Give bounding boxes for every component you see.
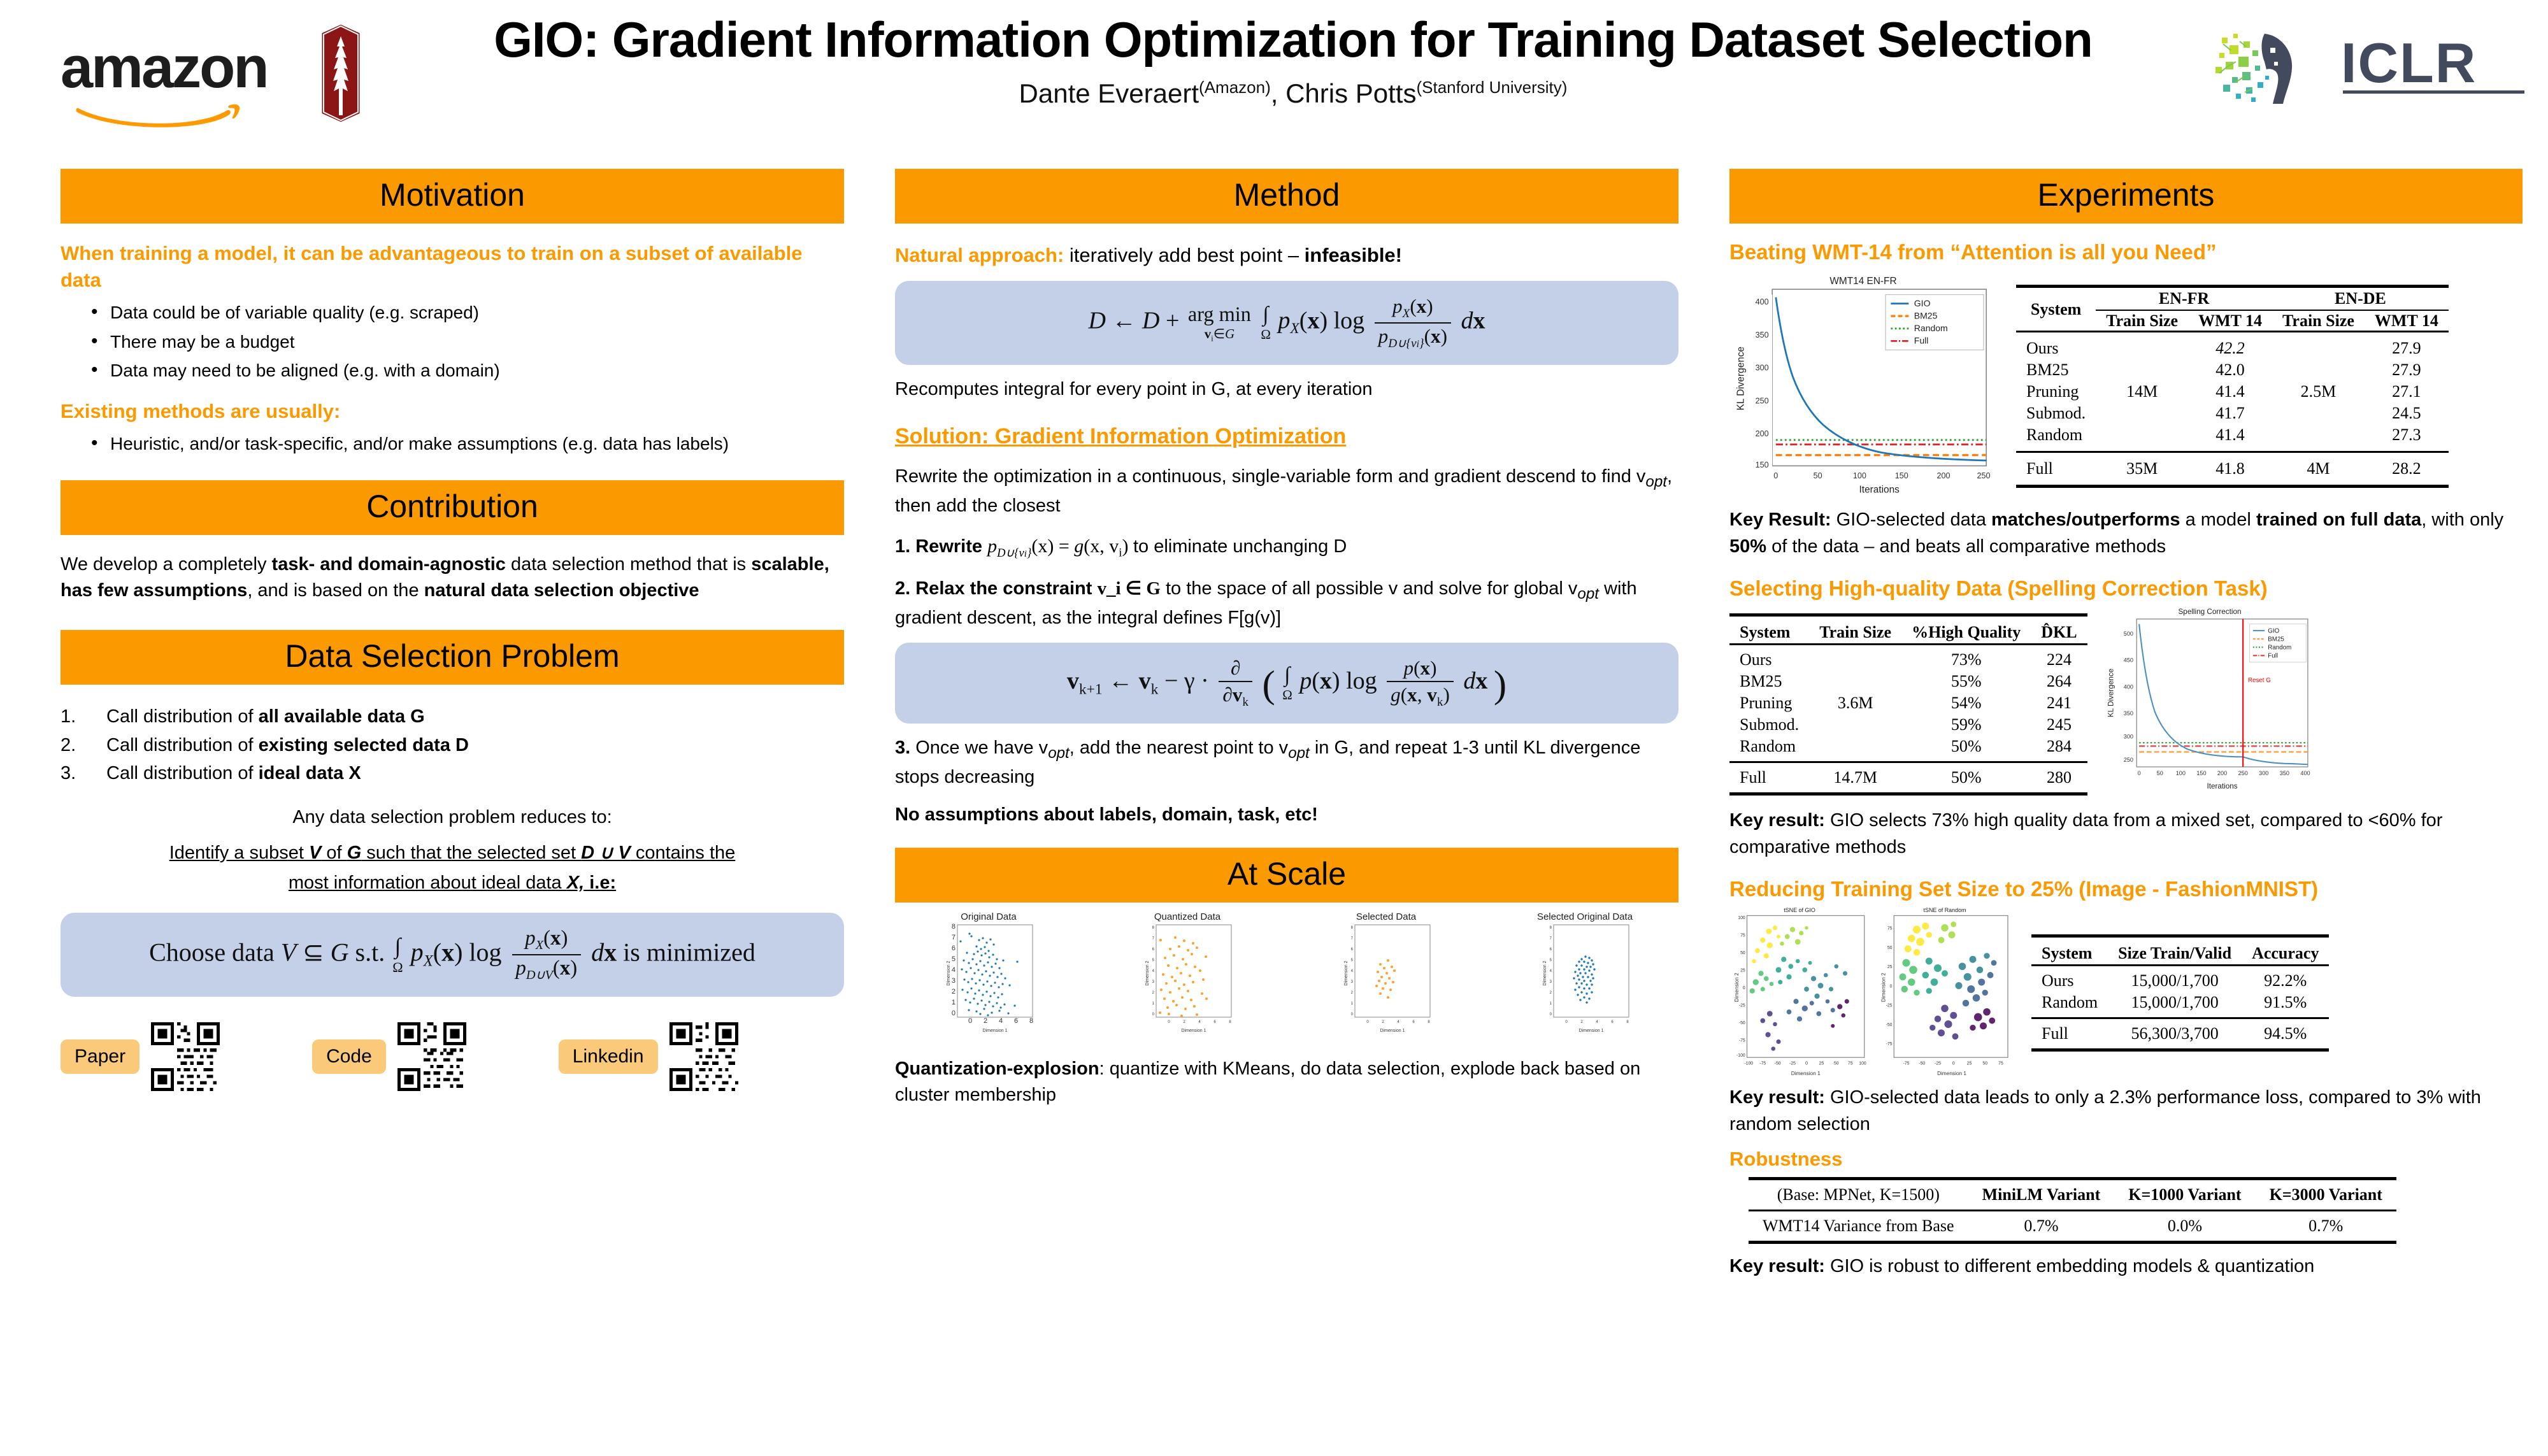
table-row: Pruning 3.6M 54% 241 xyxy=(1729,692,2087,714)
wmt-r4-fr-wmt: 41.4 xyxy=(2188,424,2272,452)
rb-col-k1000: K=1000 Variant xyxy=(2114,1179,2255,1211)
no-assumptions-note: No assumptions about labels, domain, tas… xyxy=(895,802,1678,828)
wmt-results-table: System EN-FR EN-DE Train Size WMT 14 Tra… xyxy=(2016,285,2449,488)
svg-text:-75: -75 xyxy=(1739,1039,1745,1043)
wmt-r4-system: Random xyxy=(2016,424,2096,452)
svg-text:Full: Full xyxy=(2268,653,2278,660)
scatter-title-quantized: Quantized Data xyxy=(1094,911,1281,922)
wmt-xticks: 050100 150200250 xyxy=(1773,471,1990,480)
svg-text:0: 0 xyxy=(1152,1013,1155,1017)
fmnist-results-table: System Size Train/Valid Accuracy Ours 15… xyxy=(2031,934,2329,1052)
spell-col-hq: %High Quality xyxy=(1901,615,2031,645)
spell-r3-system: Submod. xyxy=(1729,714,1809,736)
section-band-contribution: Contribution xyxy=(61,480,844,535)
svg-text:-25: -25 xyxy=(1789,1061,1796,1066)
spelling-subheading: Selecting High-quality Data (Spelling Co… xyxy=(1729,576,2523,601)
svg-text:8: 8 xyxy=(1626,1020,1629,1024)
wmt-group-enfr: EN-FR xyxy=(2096,287,2272,311)
page-title: GIO: Gradient Information Optimization f… xyxy=(408,13,2179,68)
spell-col-system: System xyxy=(1729,615,1809,645)
paper-link[interactable]: Paper xyxy=(61,1022,220,1091)
rb-col-minilm: MiniLM Variant xyxy=(1968,1179,2115,1211)
motivation-lead-text: When training a model, it can be advanta… xyxy=(61,240,844,294)
wmt-chart-title: WMT14 EN-FR xyxy=(1829,276,1896,287)
svg-text:0: 0 xyxy=(1773,471,1778,480)
author-1-affiliation: (Amazon) xyxy=(1199,78,1271,97)
svg-text:4: 4 xyxy=(1351,969,1354,973)
amazon-logo: amazon xyxy=(61,38,283,121)
svg-text:-25: -25 xyxy=(1886,1004,1893,1008)
svg-text:8: 8 xyxy=(1029,1017,1033,1025)
paper-qr-code-icon[interactable] xyxy=(151,1022,220,1091)
rb-v2: 0.0% xyxy=(2114,1211,2255,1243)
svg-text:3: 3 xyxy=(1550,980,1552,984)
scatter-xlabel-selected: Dimension 1 xyxy=(1380,1029,1405,1033)
spell-full-hq: 50% xyxy=(1901,762,2031,794)
svg-text:6: 6 xyxy=(1351,948,1354,952)
svg-text:75: 75 xyxy=(1848,1061,1853,1066)
table-header-row: (Base: MPNet, K=1500) MiniLM Variant K=1… xyxy=(1749,1179,2396,1211)
svg-text:0: 0 xyxy=(1952,1061,1955,1066)
rb-key-label: Key result: xyxy=(1729,1256,1825,1276)
list-number: 2. xyxy=(61,731,76,760)
spell-col-dkl: D̂KL xyxy=(2031,615,2087,645)
svg-text:75: 75 xyxy=(1998,1061,2003,1066)
identify-G: G xyxy=(347,843,362,863)
svg-text:6: 6 xyxy=(952,945,955,952)
wmt-sub-fr-wmt: WMT 14 xyxy=(2188,310,2272,332)
table-row: WMT14 Variance from Base 0.7% 0.0% 0.7% xyxy=(1749,1211,2396,1243)
svg-text:8: 8 xyxy=(1351,926,1354,930)
identify-b: of xyxy=(321,843,347,863)
tsne-gio-ylabel: Dimension 2 xyxy=(1734,973,1740,1002)
svg-text:0: 0 xyxy=(1805,1061,1808,1066)
svg-text:0: 0 xyxy=(2137,770,2140,776)
scatter-ylabel-original: Dimension 2 xyxy=(947,960,951,985)
spell-r2-size: 3.6M xyxy=(1809,692,1901,714)
reduces-to-text: Any data selection problem reduces to: xyxy=(61,804,844,831)
fm-r0-system: Ours xyxy=(2031,965,2108,992)
natural-approach-equation-box: D ← D + arg minvi∈G ∫Ω pX(x) log pX(x)pD… xyxy=(895,281,1678,365)
scatter-xlabel-selected-original: Dimension 1 xyxy=(1579,1029,1604,1033)
svg-text:-75: -75 xyxy=(1903,1061,1910,1066)
wmt-key-d: a model xyxy=(2180,510,2256,530)
identify-DV: D ∪ V xyxy=(581,843,631,863)
svg-text:150: 150 xyxy=(1895,471,1908,480)
svg-text:350: 350 xyxy=(1756,331,1769,339)
data-selection-numbered-list: 1.Call distribution of all available dat… xyxy=(61,703,844,789)
links-row: Paper xyxy=(61,1022,844,1091)
table-header-row: System Size Train/Valid Accuracy xyxy=(2031,936,2329,965)
wmt-r2-de-size: 2.5M xyxy=(2272,381,2365,403)
wmt-r0-de-size xyxy=(2272,332,2365,360)
spell-full-dkl: 280 xyxy=(2031,762,2087,794)
rewrite-subscript: opt xyxy=(1645,473,1667,490)
svg-text:0: 0 xyxy=(1366,1020,1369,1024)
spell-xlabel: Iterations xyxy=(2207,782,2237,790)
method-step-3: 3. Once we have vopt, add the nearest po… xyxy=(895,735,1678,790)
identify-V: V xyxy=(309,843,321,863)
wmt-r4-fr-size xyxy=(2096,424,2188,452)
infeasible-emphasis: infeasible! xyxy=(1305,244,1402,266)
wmt-r1-fr-size xyxy=(2096,359,2188,381)
section-band-at-scale: At Scale xyxy=(895,848,1678,903)
natural-approach-label: Natural approach: xyxy=(895,244,1064,266)
step2-subscript: opt xyxy=(1577,585,1599,603)
wmt-key-h: of the data – and beats all comparative … xyxy=(1766,536,2166,557)
author-separator: , xyxy=(1271,78,1285,108)
section-band-data-selection: Data Selection Problem xyxy=(61,630,844,685)
spell-col-size: Train Size xyxy=(1809,615,1901,645)
svg-text:250: 250 xyxy=(1977,471,1990,480)
spell-r2-hq: 54% xyxy=(1901,692,2031,714)
section-band-experiments: Experiments xyxy=(1729,169,2523,224)
svg-text:GIO: GIO xyxy=(1914,298,1931,308)
wmt-key-g: 50% xyxy=(1729,536,1766,557)
title-block: GIO: Gradient Information Optimization f… xyxy=(408,13,2179,109)
svg-text:50: 50 xyxy=(1834,1061,1839,1066)
svg-text:50: 50 xyxy=(1814,471,1822,480)
step1-tail: to eliminate unchanging D xyxy=(1133,536,1347,557)
spell-r3-hq: 59% xyxy=(1901,714,2031,736)
step1-label: 1. Rewrite xyxy=(895,536,982,557)
svg-text:350: 350 xyxy=(2123,710,2133,717)
wmt-r1-system: BM25 xyxy=(2016,359,2096,381)
svg-text:BM25: BM25 xyxy=(2268,636,2284,643)
svg-text:100: 100 xyxy=(1738,916,1745,920)
code-qr-code-icon[interactable] xyxy=(397,1022,466,1091)
svg-text:25: 25 xyxy=(1819,1061,1824,1066)
robustness-table: (Base: MPNet, K=1500) MiniLM Variant K=1… xyxy=(1749,1177,2396,1244)
spell-r4-hq: 50% xyxy=(1901,736,2031,762)
fm-key-text: GIO-selected data leads to only a 2.3% p… xyxy=(1729,1087,2481,1134)
motivation-bullet-list: Data could be of variable quality (e.g. … xyxy=(61,300,844,383)
svg-text:0: 0 xyxy=(1351,1013,1354,1017)
spell-chart-title: Spelling Correction xyxy=(2178,608,2241,616)
spell-r1-dkl: 264 xyxy=(2031,671,2087,692)
step3-b: , add the nearest point to v xyxy=(1070,738,1288,758)
rb-key-text: GIO is robust to different embedding mod… xyxy=(1825,1256,2314,1276)
svg-text:8: 8 xyxy=(1229,1020,1231,1024)
poster-header: amazon GIO: Gradient Information Optimiz… xyxy=(0,0,2548,159)
svg-text:3: 3 xyxy=(1351,980,1354,984)
svg-text:0: 0 xyxy=(1550,1013,1552,1017)
svg-text:5: 5 xyxy=(1550,959,1552,962)
objective-equation-box: Choose data V ⊆ G s.t. ∫Ω pX(x) log pX(x… xyxy=(61,913,844,997)
scatter-xlabel-original: Dimension 1 xyxy=(983,1029,1008,1033)
fm-col-size: Size Train/Valid xyxy=(2108,936,2242,965)
table-header-row: System Train Size %High Quality D̂KL xyxy=(1729,615,2087,645)
scatter-svg-selected: 8765 43210 02468 Dimension 2 Dimension 1 xyxy=(1292,922,1480,1040)
section-band-motivation: Motivation xyxy=(61,169,844,224)
svg-text:400: 400 xyxy=(2300,770,2310,776)
svg-text:-25: -25 xyxy=(1739,1004,1745,1008)
svg-text:4: 4 xyxy=(999,1017,1003,1025)
svg-text:7: 7 xyxy=(952,934,955,941)
gio-update-equation-box: vk+1 ← vk − γ · ∂∂vk ( ∫Ω p(x) log p(x)g… xyxy=(895,643,1678,724)
wmt-col-system: System xyxy=(2016,287,2096,332)
wmt-r4-de-size xyxy=(2272,424,2365,452)
table-footer-row: Full 35M 41.8 4M 28.2 xyxy=(2016,452,2449,487)
svg-text:2: 2 xyxy=(1580,1020,1583,1024)
table-row: Ours 15,000/1,700 92.2% xyxy=(2031,965,2329,992)
list-text-b: existing selected data D xyxy=(259,735,469,755)
svg-text:4: 4 xyxy=(1152,969,1155,973)
svg-text:250: 250 xyxy=(1756,396,1769,405)
tsne-gio-xticks: -100-75-50-25 0255075100 xyxy=(1744,1061,1866,1066)
wmt-full-fr-size: 35M xyxy=(2096,452,2188,487)
spell-ylabel: KL Divergence xyxy=(2107,669,2115,717)
svg-text:150: 150 xyxy=(1756,460,1769,469)
svg-text:BM25: BM25 xyxy=(1914,310,1938,320)
svg-text:500: 500 xyxy=(2123,631,2133,637)
column-left: Motivation When training a model, it can… xyxy=(61,169,844,1091)
svg-text:2: 2 xyxy=(1550,991,1552,995)
solution-heading: Solution: Gradient Information Optimizat… xyxy=(895,422,1678,451)
wmt-r3-de-wmt: 24.5 xyxy=(2365,403,2449,424)
wmt-key-label: Key Result: xyxy=(1729,510,1831,530)
column-right: Experiments Beating WMT-14 from “Attenti… xyxy=(1729,169,2523,1280)
wmt-row: WMT14 EN-FR 400350250 200200150 40035030… xyxy=(1729,273,2523,496)
table-footer-row: Full 14.7M 50% 280 xyxy=(1729,762,2087,794)
identify-d: contains the xyxy=(631,843,735,863)
list-number: 1. xyxy=(61,703,76,731)
spell-full-size: 14.7M xyxy=(1809,762,1901,794)
section-band-method: Method xyxy=(895,169,1678,224)
tsne-gio-title: tSNE of GIO xyxy=(1784,907,1815,913)
spell-reset-annotation: Reset G xyxy=(2248,677,2271,684)
wmt-key-f: , with only xyxy=(2421,510,2503,530)
spell-r3-size xyxy=(1809,714,1901,736)
wmt-key-b: GIO-selected data xyxy=(1831,510,1991,530)
spell-r1-hq: 55% xyxy=(1901,671,2031,692)
gio-update-equation: vk+1 ← vk − γ · ∂∂vk ( ∫Ω p(x) log p(x)g… xyxy=(912,657,1662,710)
svg-text:4: 4 xyxy=(1550,969,1552,973)
svg-text:-50: -50 xyxy=(1919,1061,1925,1066)
list-text-b: all available data G xyxy=(259,706,425,727)
table-row: Random 15,000/1,700 91.5% xyxy=(2031,992,2329,1018)
table-row: Submod. 41.7 24.5 xyxy=(2016,403,2449,424)
natural-approach-line: Natural approach: iteratively add best p… xyxy=(895,241,1678,269)
wmt-key-result: Key Result: GIO-selected data matches/ou… xyxy=(1729,506,2523,560)
spell-r0-size xyxy=(1809,645,1901,671)
svg-text:200: 200 xyxy=(1936,471,1950,480)
svg-text:8: 8 xyxy=(952,923,955,931)
list-text-a: Call distribution of xyxy=(106,763,259,783)
identify-c: such that the selected set xyxy=(361,843,581,863)
svg-text:8: 8 xyxy=(1550,926,1552,930)
linkedin-label[interactable]: Linkedin xyxy=(559,1039,658,1074)
wmt-full-de-wmt: 28.2 xyxy=(2365,452,2449,487)
wmt-r0-fr-wmt: 42.2 xyxy=(2188,332,2272,360)
wmt-group-ende: EN-DE xyxy=(2272,287,2449,311)
table-row: Pruning 14M 41.4 2.5M 27.1 xyxy=(2016,381,2449,403)
tsne-gio-chart: tSNE of GIO 100755025 0-25-50-75-100 -10… xyxy=(1729,905,1870,1080)
svg-text:6: 6 xyxy=(1152,948,1155,952)
scatter-panel-selected-original: Selected Original Data 8765 43210 02468 … xyxy=(1491,911,1678,1043)
spelling-correction-chart: Spelling Correction 500450400 350300250 … xyxy=(2101,606,2318,797)
wmt-r0-system: Ours xyxy=(2016,332,2096,360)
stanford-tree-logo xyxy=(312,22,369,124)
rb-col-k3000: K=3000 Variant xyxy=(2256,1179,2396,1211)
wmt-r1-de-size xyxy=(2272,359,2365,381)
step2-label: 2. Relax the constraint xyxy=(895,578,1092,599)
spell-r1-size xyxy=(1809,671,1901,692)
svg-text:250: 250 xyxy=(2238,770,2247,776)
scatter-ylabel-quantized: Dimension 2 xyxy=(1145,960,1150,985)
list-text-a: Call distribution of xyxy=(106,735,259,755)
step2-mid: to the space of all possible v and solve… xyxy=(1161,578,1578,599)
spell-xticks: 050100150 200250300350400 xyxy=(2137,770,2310,776)
svg-text:300: 300 xyxy=(2259,770,2268,776)
tsne-random-xticks: -75-50-250 255075 xyxy=(1903,1061,2003,1066)
scatter-title-selected-original: Selected Original Data xyxy=(1491,911,1678,922)
spell-r4-size xyxy=(1809,736,1901,762)
fm-full-acc: 94.5% xyxy=(2242,1018,2329,1050)
svg-text:0: 0 xyxy=(968,1017,972,1025)
at-scale-caption-bold: Quantization-explosion xyxy=(895,1059,1099,1079)
recomputes-note: Recomputes integral for every point in G… xyxy=(895,376,1678,403)
objective-equation: Choose data V ⊆ G s.t. ∫Ω pX(x) log pX(x… xyxy=(77,927,827,983)
svg-text:4: 4 xyxy=(1198,1020,1201,1024)
wmt-r0-de-wmt: 27.9 xyxy=(2365,332,2449,360)
rb-col-base: (Base: MPNet, K=1500) xyxy=(1749,1179,1968,1211)
svg-text:100: 100 xyxy=(1859,1061,1866,1066)
fm-full-system: Full xyxy=(2031,1018,2108,1050)
svg-text:-25: -25 xyxy=(1935,1061,1941,1066)
fm-r0-size: 15,000/1,700 xyxy=(2108,965,2242,992)
table-row: Ours 42.2 27.9 xyxy=(2016,332,2449,360)
svg-text:1: 1 xyxy=(1351,1002,1354,1006)
svg-text:50: 50 xyxy=(1887,946,1893,950)
svg-text:1: 1 xyxy=(952,999,955,1006)
list-item: 2.Call distribution of existing selected… xyxy=(61,731,844,760)
svg-text:5: 5 xyxy=(1152,959,1155,962)
existing-methods-heading: Existing methods are usually: xyxy=(61,398,844,425)
at-scale-scatter-row: Original Data 8765 43210 02468 Dimension… xyxy=(895,911,1678,1043)
svg-text:2: 2 xyxy=(1152,991,1155,995)
table-row: BM25 42.0 27.9 xyxy=(2016,359,2449,381)
fm-col-system: System xyxy=(2031,936,2108,965)
linkedin-link[interactable]: Linkedin xyxy=(559,1022,738,1091)
poster-root: amazon GIO: Gradient Information Optimiz… xyxy=(0,0,2548,1456)
spell-yticks: 500450400 350300250 xyxy=(2123,631,2133,763)
step2-equation: v_i ∈ G xyxy=(1098,578,1161,599)
svg-text:1: 1 xyxy=(1550,1002,1552,1006)
list-item: Heuristic, and/or task-specific, and/or … xyxy=(61,431,844,456)
wmt-chart-legend: GIO BM25 Random Full xyxy=(1886,295,1984,350)
svg-text:Random: Random xyxy=(1914,323,1948,333)
iclr-logo-text: ICLR xyxy=(2341,31,2477,96)
spelling-row: System Train Size %High Quality D̂KL Our… xyxy=(1729,606,2523,797)
wmt-r2-de-wmt: 27.1 xyxy=(2365,381,2449,403)
step3-a: Once we have v xyxy=(910,738,1048,758)
wmt-key-e: trained on full data xyxy=(2256,510,2421,530)
scatter-panel-quantized: Quantized Data 8765 43210 02468 Dimensio… xyxy=(1094,911,1281,1043)
svg-text:2: 2 xyxy=(1382,1020,1384,1024)
code-label[interactable]: Code xyxy=(312,1039,386,1074)
amazon-logo-text: amazon xyxy=(61,38,283,97)
method-step-1: 1. Rewrite pD∪{vi}(x) = g(x, vi) to elim… xyxy=(895,533,1678,562)
paper-label[interactable]: Paper xyxy=(61,1039,140,1074)
linkedin-qr-code-icon[interactable] xyxy=(669,1022,738,1091)
svg-text:50: 50 xyxy=(2156,770,2163,776)
amazon-smile-icon xyxy=(76,99,241,129)
svg-text:2: 2 xyxy=(984,1017,987,1025)
table-row: Random 50% 284 xyxy=(1729,736,2087,762)
iclr-head-icon xyxy=(2204,22,2331,111)
svg-text:5: 5 xyxy=(952,955,955,963)
svg-text:-100: -100 xyxy=(1736,1053,1745,1058)
svg-text:100: 100 xyxy=(2175,770,2185,776)
list-item: 3.Call distribution of ideal data X xyxy=(61,759,844,788)
svg-text:300: 300 xyxy=(1756,364,1769,373)
svg-text:75: 75 xyxy=(1740,934,1745,938)
list-item: Data could be of variable quality (e.g. … xyxy=(61,300,844,325)
wmt-r1-de-wmt: 27.9 xyxy=(2365,359,2449,381)
contribution-text-c: data selection method that is xyxy=(506,554,751,575)
wmt-subheading: Beating WMT-14 from “Attention is all yo… xyxy=(1729,240,2523,264)
spell-r2-system: Pruning xyxy=(1729,692,1809,714)
author-1: Dante Everaert xyxy=(1019,78,1199,108)
spelling-results-table: System Train Size %High Quality D̂KL Our… xyxy=(1729,613,2087,796)
author-2: Chris Potts xyxy=(1285,78,1416,108)
wmt-r3-fr-size xyxy=(2096,403,2188,424)
scatter-ylabel-selected: Dimension 2 xyxy=(1344,960,1349,985)
step3-sub-1: opt xyxy=(1048,745,1070,762)
step3-sub-2: opt xyxy=(1288,745,1310,762)
svg-text:6: 6 xyxy=(1550,948,1552,952)
fm-r0-acc: 92.2% xyxy=(2242,965,2329,992)
tsne-random-chart: tSNE of Random 7550250 -25-50-75 -75-50-… xyxy=(1875,905,2015,1080)
existing-methods-bullet-list: Heuristic, and/or task-specific, and/or … xyxy=(61,431,844,456)
spell-key-label: Key result: xyxy=(1729,810,1825,831)
identify-e: most information about ideal data xyxy=(289,873,567,893)
spelling-key-result: Key result: GIO selects 73% high quality… xyxy=(1729,807,2523,860)
scatter-svg-quantized: 8765 43210 02468 Dimension 2 Dimension 1 xyxy=(1094,922,1281,1040)
svg-text:6: 6 xyxy=(1412,1020,1415,1024)
svg-text:350: 350 xyxy=(2279,770,2289,776)
wmt-sub-de-size: Train Size xyxy=(2272,310,2365,332)
wmt-key-c: matches/outperforms xyxy=(1991,510,2180,530)
wmt-full-fr-wmt: 41.8 xyxy=(2188,452,2272,487)
svg-text:-50: -50 xyxy=(1739,1021,1745,1025)
spell-r0-hq: 73% xyxy=(1901,645,2031,671)
identify-X: X, xyxy=(567,873,584,893)
svg-text:7: 7 xyxy=(1351,937,1354,941)
column-middle: Method Natural approach: iteratively add… xyxy=(895,169,1678,1108)
svg-text:8: 8 xyxy=(1428,1020,1430,1024)
contribution-text-b: task- and domain-agnostic xyxy=(272,554,506,575)
svg-text:400: 400 xyxy=(2123,684,2133,690)
svg-text:4: 4 xyxy=(1596,1020,1598,1024)
wmt14-enfr-chart: WMT14 EN-FR 400350250 200200150 40035030… xyxy=(1729,273,1997,496)
iclr-logo: ICLR xyxy=(2204,19,2535,108)
fmnist-subheading: Reducing Training Set Size to 25% (Image… xyxy=(1729,877,2523,901)
svg-text:50: 50 xyxy=(1982,1061,1987,1066)
svg-text:6: 6 xyxy=(1611,1020,1614,1024)
svg-text:GIO: GIO xyxy=(2268,627,2279,634)
svg-text:150: 150 xyxy=(2196,770,2206,776)
scatter-xlabel-quantized: Dimension 1 xyxy=(1182,1029,1206,1033)
svg-text:3: 3 xyxy=(1152,980,1155,984)
list-number: 3. xyxy=(61,759,76,788)
code-link[interactable]: Code xyxy=(312,1022,466,1091)
spell-key-text: GIO selects 73% high quality data from a… xyxy=(1729,810,2442,857)
contribution-paragraph: We develop a completely task- and domain… xyxy=(61,552,844,604)
wmt-r3-de-size xyxy=(2272,403,2365,424)
contribution-text-f: natural data selection objective xyxy=(424,580,699,601)
